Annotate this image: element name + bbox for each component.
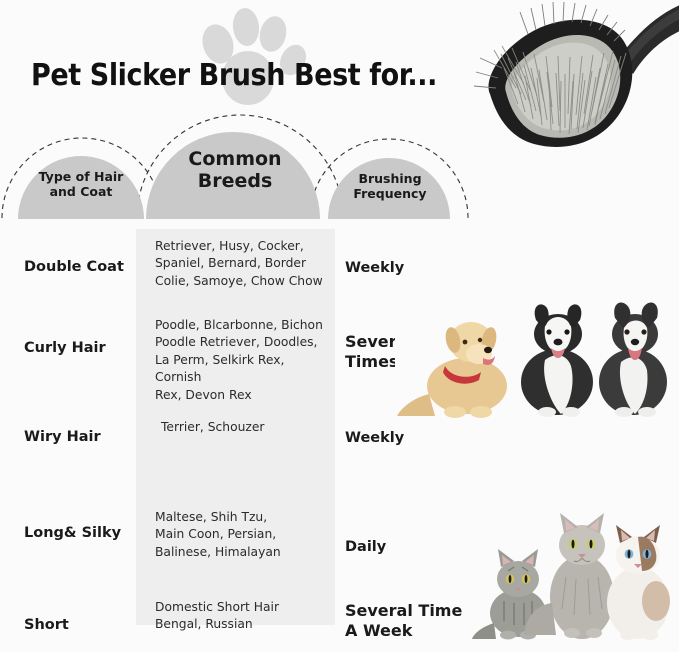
- infographic-root: Pet Slicker Brush Best for... Type of Ha…: [0, 0, 679, 652]
- arch-label-freq-line2: Frequency: [330, 187, 450, 202]
- table-row: Short Domestic Short Hair Bengal, Russia…: [0, 573, 470, 652]
- row-type-label: Short: [24, 617, 136, 633]
- arch-label-type-of-hair: Type of Hair and Coat: [18, 170, 144, 200]
- row-breeds-value: Terrier, Schouzer: [161, 419, 333, 436]
- row-type-label: Curly Hair: [24, 340, 136, 356]
- breeds-line: Maltese, Shih Tzu,: [155, 509, 327, 526]
- breeds-line: Poodle Retriever, Doodles,: [155, 334, 327, 351]
- row-breeds-value: Domestic Short Hair Bengal, Russian: [155, 599, 327, 634]
- arch-label-breeds-line2: Breeds: [160, 170, 310, 192]
- arch-label-freq-line1: Brushing: [330, 172, 450, 187]
- breeds-line: Main Coon, Persian,: [155, 526, 327, 543]
- row-type-label: Long& Silky: [24, 525, 136, 541]
- frequency-line: Weekly: [345, 429, 475, 447]
- slicker-brush-photo: [468, 0, 679, 156]
- frequency-line: A Week: [345, 621, 475, 641]
- row-breeds-value: Poodle, Blcarbonne, Bichon Poodle Retrie…: [155, 317, 327, 404]
- breeds-line: Retriever, Husy, Cocker,: [155, 238, 327, 255]
- frequency-line: Daily: [345, 538, 475, 556]
- arch-label-brushing-frequency: Brushing Frequency: [330, 172, 450, 202]
- table-row: Long& Silky Maltese, Shih Tzu, Main Coon…: [0, 485, 470, 573]
- frequency-line: Several Time: [345, 601, 475, 621]
- breeds-line: Terrier, Schouzer: [161, 419, 333, 436]
- row-breeds-value: Retriever, Husy, Cocker, Spaniel, Bernar…: [155, 238, 327, 290]
- breeds-line: La Perm, Selkirk Rex, Cornish: [155, 352, 327, 387]
- row-frequency-value: Weekly: [345, 259, 475, 277]
- row-frequency-value: Several Time A Week: [345, 601, 475, 641]
- arch-label-common-breeds: Common Breeds: [160, 148, 310, 193]
- row-type-label: Double Coat: [24, 259, 136, 275]
- arch-label-type-line2: and Coat: [18, 185, 144, 200]
- arch-label-type-line1: Type of Hair: [18, 170, 144, 185]
- breeds-line: Balinese, Himalayan: [155, 544, 327, 561]
- breeds-line: Bengal, Russian: [155, 616, 327, 633]
- breeds-line: Poodle, Blcarbonne, Bichon: [155, 317, 327, 334]
- three-dogs-photo: [395, 282, 675, 420]
- row-type-label: Wiry Hair: [24, 429, 136, 445]
- three-cats-photo: [470, 505, 675, 645]
- breeds-line: Spaniel, Bernard, Border: [155, 255, 327, 272]
- arch-label-breeds-line1: Common: [160, 148, 310, 170]
- page-title: Pet Slicker Brush Best for...: [31, 58, 437, 93]
- row-frequency-value: Weekly: [345, 429, 475, 447]
- breeds-line: Domestic Short Hair: [155, 599, 327, 616]
- frequency-line: Weekly: [345, 259, 475, 277]
- row-breeds-value: Maltese, Shih Tzu, Main Coon, Persian, B…: [155, 509, 327, 561]
- row-frequency-value: Daily: [345, 538, 475, 556]
- breeds-line: Colie, Samoye, Chow Chow: [155, 273, 327, 290]
